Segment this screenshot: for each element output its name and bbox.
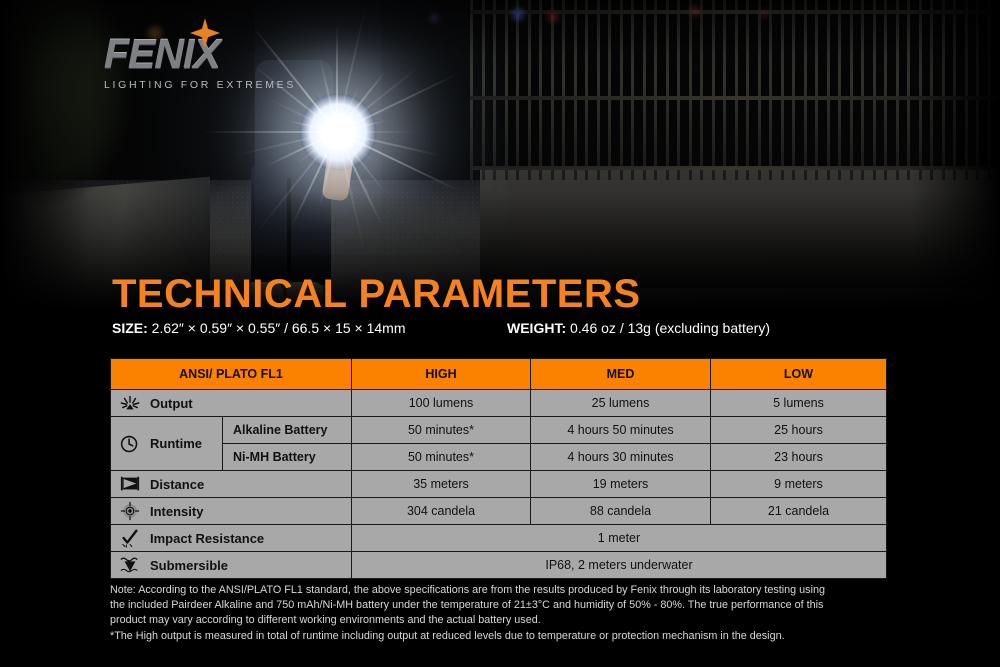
size-label: SIZE:: [112, 320, 148, 336]
brand-wordmark: FENIX: [104, 34, 296, 75]
fenix-logo: FENIX LIGHTING FOR EXTREMES: [104, 34, 296, 91]
footnote-line-3: product may vary according to different …: [110, 613, 900, 628]
row-label-text: Submersible: [150, 558, 228, 573]
row-label-impact-resistance: Impact Resistance: [111, 525, 352, 552]
table-row: Intensity 304 candela 88 candela 21 cand…: [111, 498, 887, 525]
cell-output-med: 25 lumens: [531, 390, 711, 417]
impact-resistance-icon: [119, 528, 141, 548]
spec-table: ANSI/ PLATO FL1 HIGH MED LOW: [110, 358, 887, 579]
footnote-block: Note: According to the ANSI/PLATO FL1 st…: [110, 583, 900, 644]
brand-tagline: LIGHTING FOR EXTREMES: [104, 79, 296, 91]
table-row: Distance 35 meters 19 meters 9 meters: [111, 471, 887, 498]
page-title: TECHNICAL PARAMETERS: [112, 272, 641, 317]
table-body: Output 100 lumens 25 lumens 5 lumens: [111, 390, 887, 579]
table-row: Impact Resistance 1 meter: [111, 525, 887, 552]
table-row: Submersible IP68, 2 meters underwater: [111, 552, 887, 579]
row-label-text: Output: [150, 396, 193, 411]
footnote-line-2: the included Pairdeer Alkaline and 750 m…: [110, 598, 900, 613]
clock-icon: [119, 434, 141, 454]
product-spec-page: FENIX LIGHTING FOR EXTREMES TECHNICAL PA…: [0, 0, 1000, 667]
table-row: Runtime Alkaline Battery 50 minutes* 4 h…: [111, 417, 887, 444]
cell-submersible-value: IP68, 2 meters underwater: [352, 552, 887, 579]
weight-value: 0.46 oz / 13g (excluding battery): [566, 320, 770, 336]
cell-output-high: 100 lumens: [352, 390, 531, 417]
technical-parameters-table: ANSI/ PLATO FL1 HIGH MED LOW: [110, 358, 886, 579]
footnote-line-1: Note: According to the ANSI/PLATO FL1 st…: [110, 583, 900, 598]
row-label-intensity: Intensity: [111, 498, 352, 525]
row-label-runtime: Runtime: [111, 417, 223, 471]
row-label-text: Distance: [150, 477, 204, 492]
col-header-low: LOW: [711, 359, 887, 390]
row-label-output: Output: [111, 390, 352, 417]
cell-distance-med: 19 meters: [531, 471, 711, 498]
table-row: Output 100 lumens 25 lumens 5 lumens: [111, 390, 887, 417]
intensity-target-icon: [119, 501, 141, 521]
cell-intensity-med: 88 candela: [531, 498, 711, 525]
table-head: ANSI/ PLATO FL1 HIGH MED LOW: [111, 359, 887, 390]
cell-runtime-alkaline-med: 4 hours 50 minutes: [531, 417, 711, 444]
row-label-distance: Distance: [111, 471, 352, 498]
cell-runtime-alkaline-high: 50 minutes*: [352, 417, 531, 444]
table-header-row: ANSI/ PLATO FL1 HIGH MED LOW: [111, 359, 887, 390]
cell-runtime-alkaline-low: 25 hours: [711, 417, 887, 444]
row-label-text: Impact Resistance: [150, 531, 264, 546]
cell-intensity-low: 21 candela: [711, 498, 887, 525]
cell-distance-low: 9 meters: [711, 471, 887, 498]
row-label-submersible: Submersible: [111, 552, 352, 579]
cell-runtime-nimh-low: 23 hours: [711, 444, 887, 471]
weight-spec: WEIGHT: 0.46 oz / 13g (excluding battery…: [507, 320, 770, 336]
cell-runtime-nimh-high: 50 minutes*: [352, 444, 531, 471]
size-value: 2.62″ × 0.59″ × 0.55″ / 66.5 × 15 × 14mm: [148, 320, 406, 336]
col-header-high: HIGH: [352, 359, 531, 390]
sub-label-alkaline: Alkaline Battery: [223, 417, 352, 444]
cell-distance-high: 35 meters: [352, 471, 531, 498]
size-spec: SIZE: 2.62″ × 0.59″ × 0.55″ / 66.5 × 15 …: [112, 320, 406, 336]
row-label-text: Runtime: [150, 436, 202, 451]
beam-distance-icon: [119, 474, 141, 494]
row-label-text: Intensity: [150, 504, 203, 519]
submersible-icon: [119, 555, 141, 575]
table-row: Ni-MH Battery 50 minutes* 4 hours 30 min…: [111, 444, 887, 471]
col-header-standard: ANSI/ PLATO FL1: [111, 359, 352, 390]
sub-label-nimh: Ni-MH Battery: [223, 444, 352, 471]
cell-output-low: 5 lumens: [711, 390, 887, 417]
weight-label: WEIGHT:: [507, 320, 566, 336]
sunburst-icon: [119, 393, 141, 413]
cell-intensity-high: 304 candela: [352, 498, 531, 525]
cell-impact-resistance-value: 1 meter: [352, 525, 887, 552]
col-header-med: MED: [531, 359, 711, 390]
footnote-line-4: *The High output is measured in total of…: [110, 629, 900, 644]
cell-runtime-nimh-med: 4 hours 30 minutes: [531, 444, 711, 471]
